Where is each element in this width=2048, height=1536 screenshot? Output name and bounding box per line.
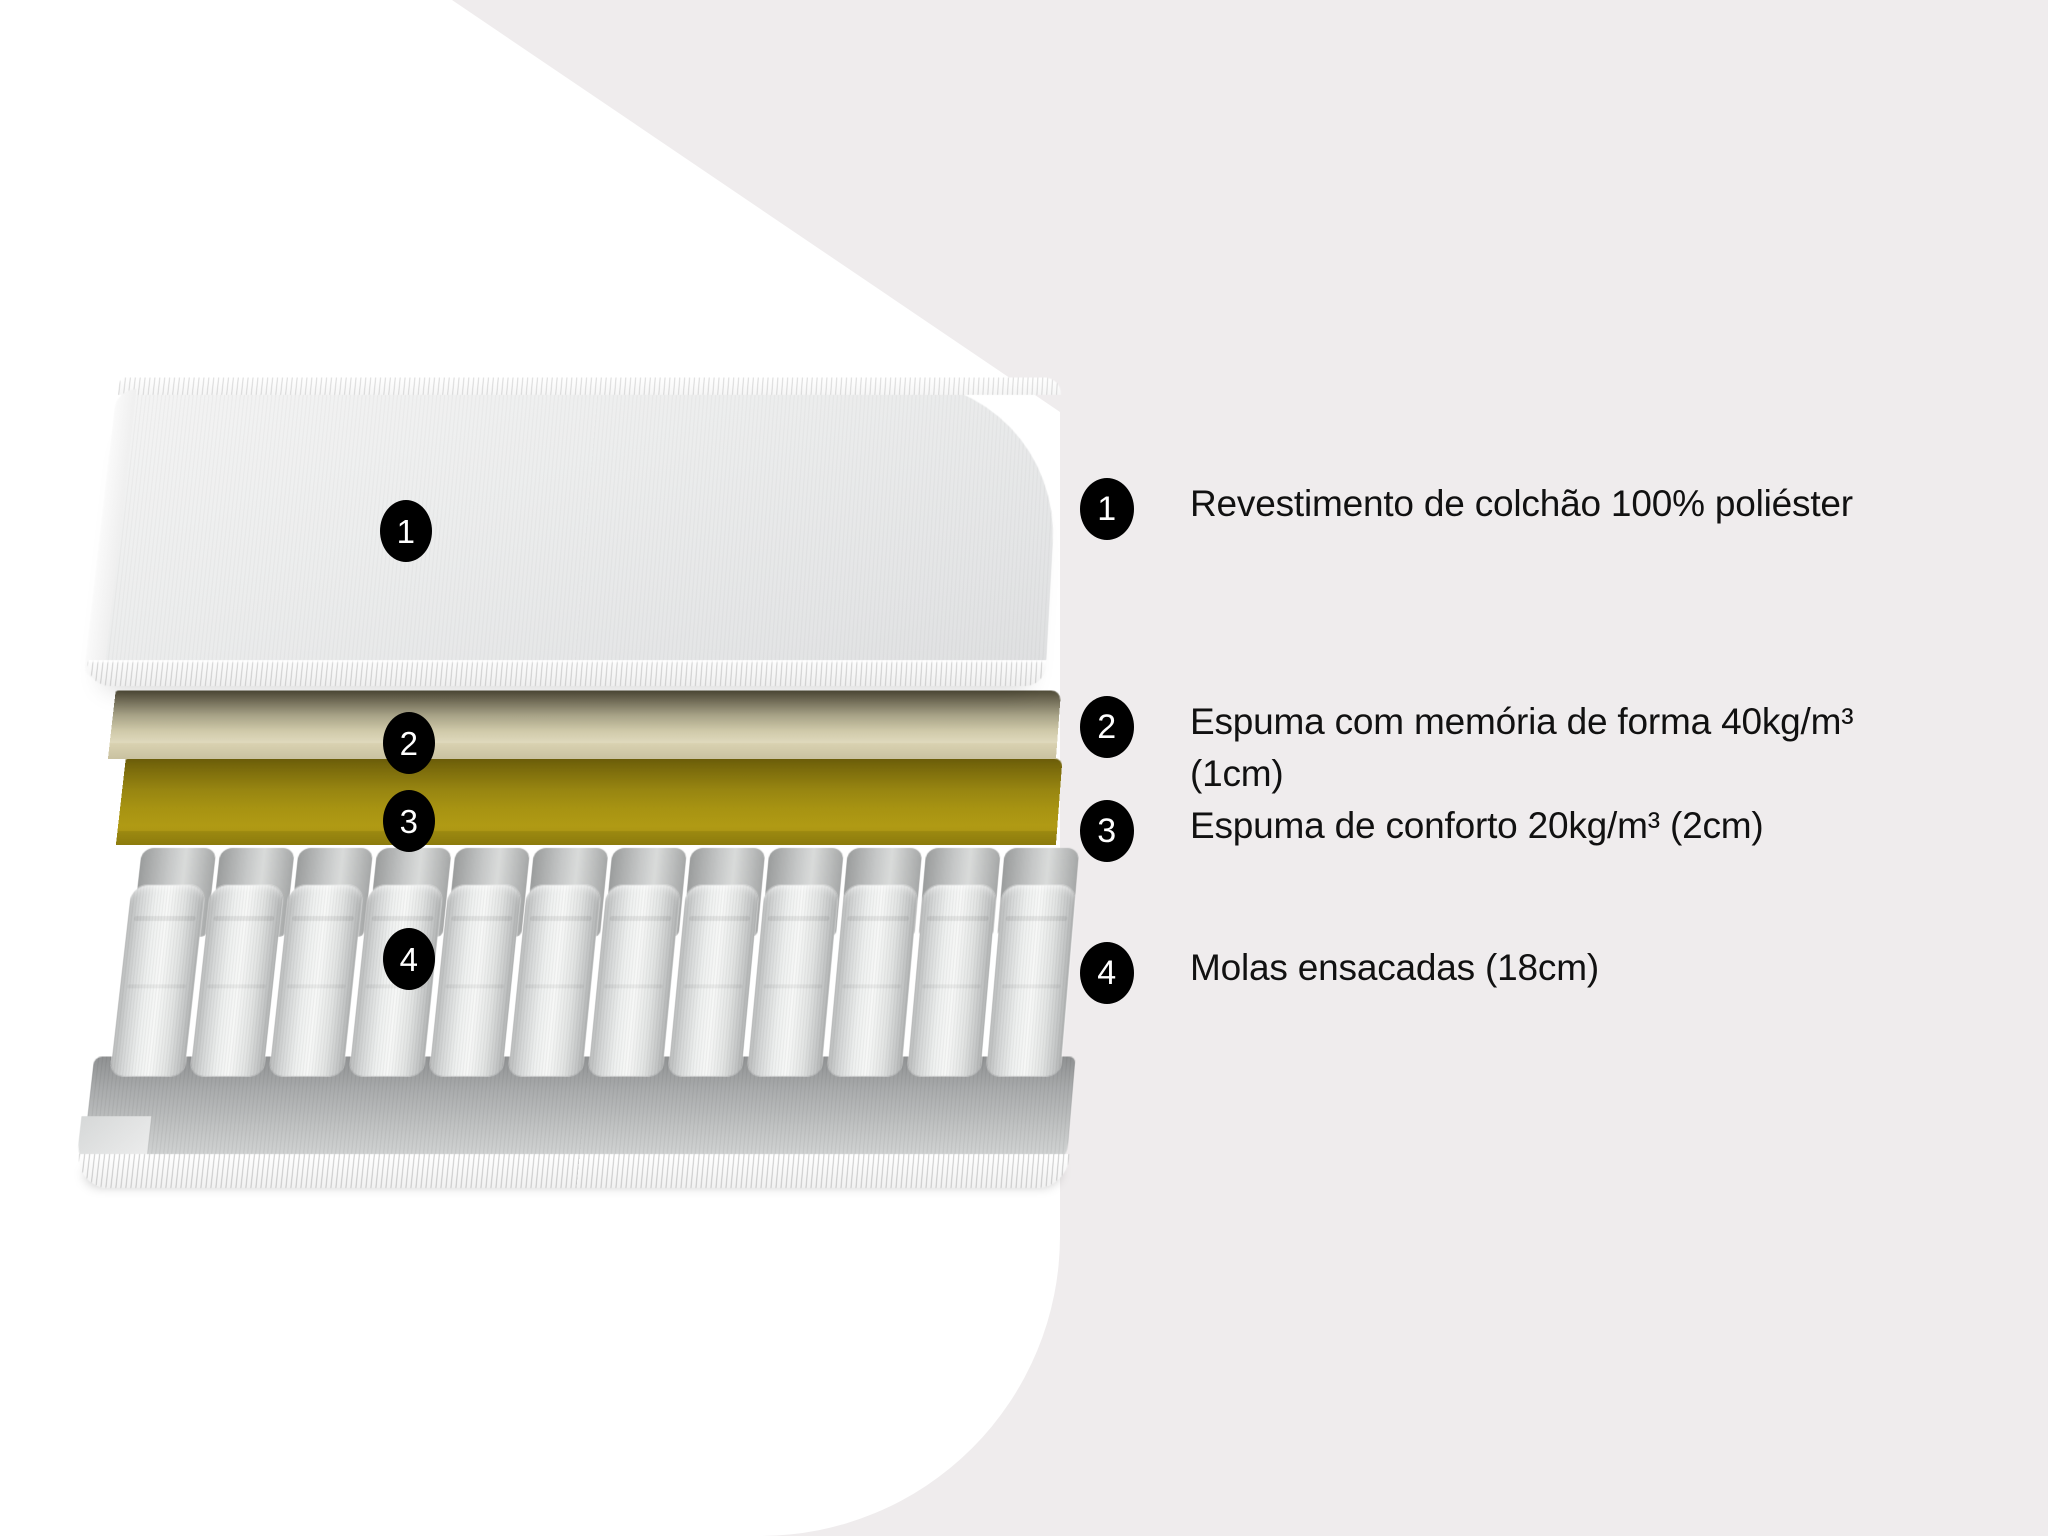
legend-list: 1 Revestimento de colchão 100% poliéster… [1080,0,1980,1536]
mattress-illustration: 1 2 3 4 [0,0,1100,1250]
diagram-badge-2: 2 [383,712,435,774]
legend-badge-4: 4 [1080,942,1134,1004]
comfort-foam-face [116,831,1057,845]
spring-unit [907,885,997,1076]
cover-left-edge [84,389,137,678]
legend-item-1: 1 Revestimento de colchão 100% poliéster [1080,478,1853,540]
spring-unit [986,885,1076,1076]
cover-bottom-piping [85,660,1047,686]
diagram-canvas: 1 2 3 4 1 Revestimento de colchão 100% p… [0,0,2048,1536]
memory-foam-face [108,743,1057,759]
legend-label-3: Espuma de conforto 20kg/m³ (2cm) [1190,800,1764,852]
diagram-badge-4: 4 [383,928,435,990]
spring-unit [190,885,285,1076]
spring-unit [508,885,601,1076]
legend-badge-3: 3 [1080,800,1134,862]
legend-label-1: Revestimento de colchão 100% poliéster [1190,478,1853,530]
legend-label-2: Espuma com memória de forma 40kg/m³ (1cm… [1190,696,1853,800]
spring-unit [588,885,680,1076]
spring-unit [429,885,522,1076]
comfort-foam-layer [116,759,1062,844]
legend-item-3: 3 Espuma de conforto 20kg/m³ (2cm) [1080,800,1764,862]
legend-badge-2: 2 [1080,696,1134,758]
spring-row-front [110,885,1076,1076]
spring-unit [668,885,760,1076]
cover-top-piping [118,378,1062,395]
mattress-cover-layer [85,380,1062,684]
spring-unit [110,885,205,1076]
spring-unit [747,885,838,1076]
pocket-springs-layer [110,848,1079,1076]
diagram-badge-3: 3 [383,790,435,852]
legend-item-2: 2 Espuma com memória de forma 40kg/m³ (1… [1080,696,1853,800]
legend-badge-1: 1 [1080,478,1134,540]
spring-unit [827,885,918,1076]
base-piping [75,1154,1069,1188]
legend-label-4: Molas ensacadas (18cm) [1190,942,1599,994]
legend-item-4: 4 Molas ensacadas (18cm) [1080,942,1599,1004]
diagram-badge-1: 1 [380,500,432,562]
memory-foam-layer [108,690,1061,758]
spring-unit [269,885,363,1076]
